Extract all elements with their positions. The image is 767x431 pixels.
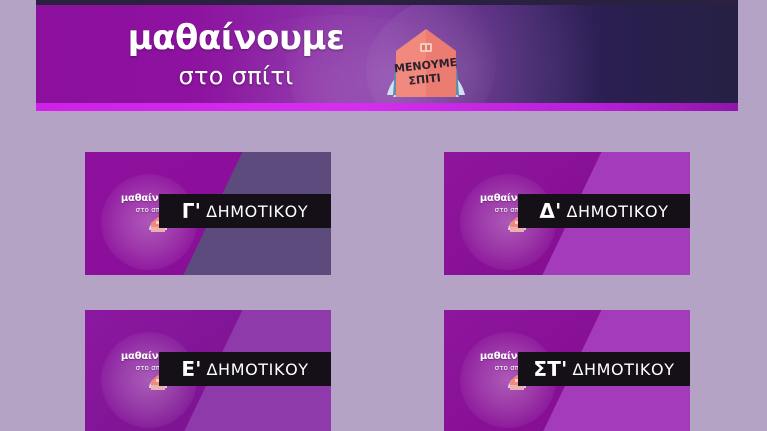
card-row: μαθαίνουμε στο σπίτι Γ' ΔΗΜΟΤΙΚΟΥ xyxy=(0,152,767,310)
banner-wordmark: μαθαίνουμε στο σπίτι xyxy=(106,21,366,88)
card-grade: Γ' xyxy=(182,199,201,223)
banner-title-sub: στο σπίτι xyxy=(106,64,366,88)
card-label-bar: Γ' ΔΗΜΟΤΙΚΟΥ xyxy=(159,194,331,228)
card-grade: Ε' xyxy=(181,357,201,381)
site-banner: μαθαίνουμε στο σπίτι ΜΕΝΟΥΜΕ ΣΠΙΤΙ xyxy=(36,5,738,111)
card-row: μαθαίνουμε στο σπίτι Ε' ΔΗΜΟΤΙΚΟΥ xyxy=(0,310,767,431)
card-label-bar: ΣΤ' ΔΗΜΟΤΙΚΟΥ xyxy=(518,352,690,386)
card-label-bar: Ε' ΔΗΜΟΤΙΚΟΥ xyxy=(159,352,331,386)
card-level: ΔΗΜΟΤΙΚΟΥ xyxy=(207,360,309,379)
card-level: ΔΗΜΟΤΙΚΟΥ xyxy=(566,202,668,221)
grade-card-epsilon[interactable]: μαθαίνουμε στο σπίτι Ε' ΔΗΜΟΤΙΚΟΥ xyxy=(85,310,331,431)
house-logo-icon: ΜΕΝΟΥΜΕ ΣΠΙΤΙ xyxy=(373,21,479,103)
grade-card-delta[interactable]: μαθαίνουμε στο σπίτι Δ' ΔΗΜΟΤΙΚΟΥ xyxy=(444,152,690,275)
grade-card-stigma[interactable]: μαθαίνουμε στο σπίτι ΣΤ' ΔΗΜΟΤΙΚΟΥ xyxy=(444,310,690,431)
card-label-bar: Δ' ΔΗΜΟΤΙΚΟΥ xyxy=(518,194,690,228)
card-level: ΔΗΜΟΤΙΚΟΥ xyxy=(572,360,674,379)
card-grade: ΣΤ' xyxy=(533,357,567,381)
grade-card-grid: μαθαίνουμε στο σπίτι Γ' ΔΗΜΟΤΙΚΟΥ xyxy=(0,152,767,431)
card-level: ΔΗΜΟΤΙΚΟΥ xyxy=(206,202,308,221)
grade-card-gamma[interactable]: μαθαίνουμε στο σπίτι Γ' ΔΗΜΟΤΙΚΟΥ xyxy=(85,152,331,275)
banner-title-main: μαθαίνουμε xyxy=(106,21,366,55)
card-grade: Δ' xyxy=(539,199,561,223)
banner-accent-rule xyxy=(36,103,738,111)
